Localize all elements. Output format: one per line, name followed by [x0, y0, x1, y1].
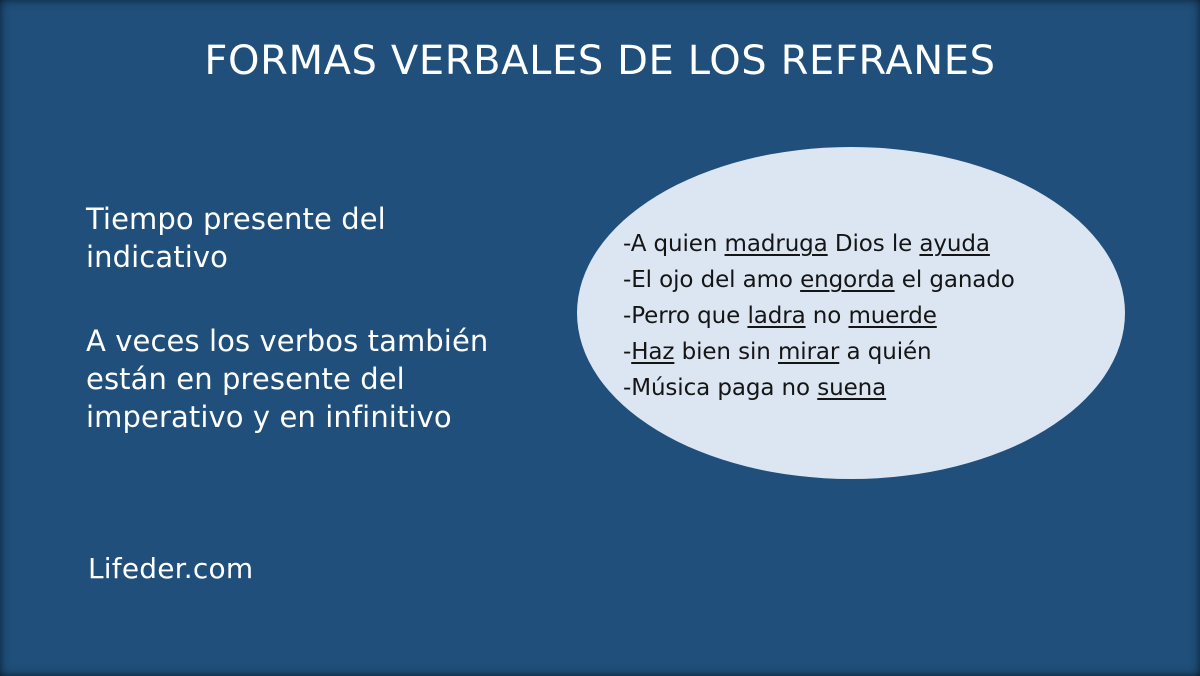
proverb-1-verb-1: engorda [800, 267, 894, 293]
list-item: -Haz bien sin mirar a quién [623, 334, 1103, 370]
list-item: -Perro que ladra no muerde [623, 298, 1103, 334]
proverb-0-middle: Dios le [828, 231, 920, 257]
proverb-2-verb-2: muerde [848, 303, 936, 329]
left-paragraph-2-line-2: están en presente del [86, 360, 556, 398]
proverb-4-verb-1: suena [817, 375, 886, 401]
list-item: -El ojo del amo engorda el ganado [623, 262, 1103, 298]
left-text-paragraph-2: A veces los verbos también están en pres… [86, 322, 556, 436]
proverb-3-verb-1: Haz [631, 339, 674, 365]
left-paragraph-2-line-3: imperativo y en infinitivo [86, 398, 556, 436]
proverb-1-prefix: -El ojo del amo [623, 267, 800, 293]
list-item: -A quien madruga Dios le ayuda [623, 226, 1103, 262]
proverb-3-suffix: a quién [839, 339, 931, 365]
proverb-2-middle: no [806, 303, 849, 329]
proverb-0-verb-1: madruga [725, 231, 828, 257]
brand-watermark: Lifeder.com [88, 552, 253, 585]
left-paragraph-2-line-1: A veces los verbos también [86, 322, 556, 360]
proverb-3-prefix: - [623, 339, 631, 365]
page-title: FORMAS VERBALES DE LOS REFRANES [0, 41, 1200, 81]
proverb-4-prefix: -Música paga no [623, 375, 817, 401]
proverb-0-verb-2: ayuda [919, 231, 989, 257]
proverb-1-middle: el ganado [895, 267, 1015, 293]
proverb-list: -A quien madruga Dios le ayuda -El ojo d… [623, 226, 1103, 406]
left-paragraph-1-line-2: indicativo [86, 238, 486, 276]
left-paragraph-1-line-1: Tiempo presente del [86, 200, 486, 238]
proverb-3-middle: bien sin [674, 339, 778, 365]
left-text-paragraph-1: Tiempo presente del indicativo [86, 200, 486, 276]
list-item: -Música paga no suena [623, 370, 1103, 406]
slide-canvas: FORMAS VERBALES DE LOS REFRANES Tiempo p… [0, 0, 1200, 676]
proverb-3-verb-2: mirar [778, 339, 839, 365]
proverb-0-prefix: -A quien [623, 231, 725, 257]
proverb-2-prefix: -Perro que [623, 303, 747, 329]
proverb-2-verb-1: ladra [747, 303, 805, 329]
